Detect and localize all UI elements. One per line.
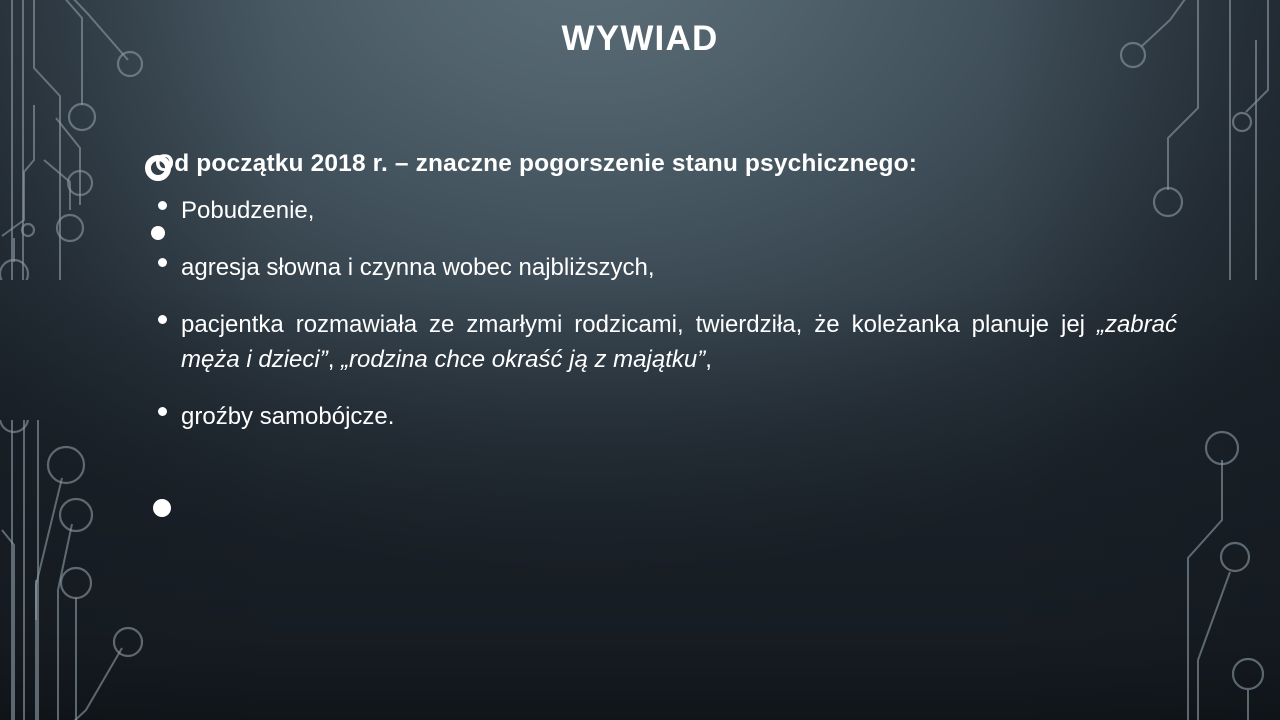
list-item: agresja słowna i czynna wobec najbliższy…	[155, 250, 1177, 285]
bullet-quote-two: „rodzina chce okraść ją z majątku”	[341, 346, 705, 373]
bullet-text: Pobudzenie,	[181, 197, 314, 224]
bullet-list: Pobudzenie, agresja słowna i czynna wobe…	[155, 193, 1177, 434]
bullet-text-after: ,	[705, 346, 712, 373]
presentation-slide: WYWIAD Od początku 2018 r. – znaczne pog…	[0, 0, 1280, 720]
bullet-text: groźby samobójcze.	[181, 403, 394, 430]
body-lead-line: Od początku 2018 r. – znaczne pogorszeni…	[155, 148, 1177, 179]
slide-title: WYWIAD	[0, 20, 1280, 59]
bullet-text-middle: ,	[328, 346, 341, 373]
list-item: pacjentka rozmawiała ze zmarłymi rodzica…	[155, 307, 1177, 377]
list-item: Pobudzenie,	[155, 193, 1177, 228]
list-item: groźby samobójcze.	[155, 399, 1177, 434]
bullet-text: agresja słowna i czynna wobec najbliższy…	[181, 254, 655, 281]
slide-body: Od początku 2018 r. – znaczne pogorszeni…	[155, 148, 1177, 435]
bullet-text-before: pacjentka rozmawiała ze zmarłymi rodzica…	[181, 311, 1097, 338]
